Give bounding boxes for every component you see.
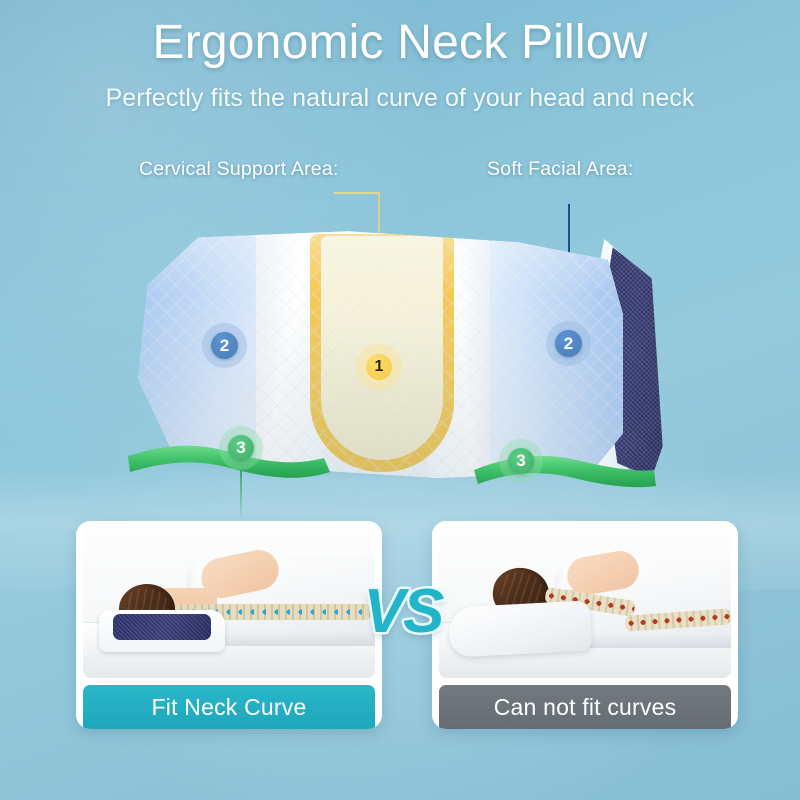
badge-soft-facial-right[interactable]: 2: [555, 330, 582, 357]
badge-number: 3: [236, 438, 245, 458]
leader-line-cervical-horizontal: [334, 192, 380, 194]
pillow-mesh-mini: [113, 614, 211, 640]
callout-label-cervical-support: Cervical Support Area:: [139, 158, 339, 181]
comparison-image-no-fit: [439, 528, 731, 678]
ergonomic-pillow-mini: [99, 610, 225, 652]
product-infographic: Ergonomic Neck Pillow Perfectly fits the…: [0, 0, 800, 800]
badge-shoulder-right[interactable]: 3: [508, 448, 534, 474]
comparison-panel-fit[interactable]: Fit Neck Curve: [76, 521, 382, 729]
comparison-image-fit: [83, 528, 375, 678]
badge-cervical-support[interactable]: 1: [366, 354, 392, 380]
badge-number: 1: [375, 358, 384, 376]
callout-label-soft-facial: Soft Facial Area:: [487, 158, 633, 181]
flat-pillow-mini: [448, 600, 592, 657]
badge-soft-facial-left[interactable]: 2: [211, 332, 238, 359]
panel-caption-no-fit: Can not fit curves: [439, 685, 731, 729]
badge-shoulder-left[interactable]: 3: [228, 435, 254, 461]
comparison-panel-no-fit[interactable]: Can not fit curves: [432, 521, 738, 729]
page-subtitle: Perfectly fits the natural curve of your…: [0, 84, 800, 113]
page-title: Ergonomic Neck Pillow: [0, 18, 800, 68]
vs-badge: VS: [361, 572, 445, 650]
badge-number: 2: [220, 336, 229, 356]
badge-number: 3: [516, 451, 525, 471]
panel-caption-fit: Fit Neck Curve: [83, 685, 375, 729]
badge-number: 2: [564, 334, 573, 354]
